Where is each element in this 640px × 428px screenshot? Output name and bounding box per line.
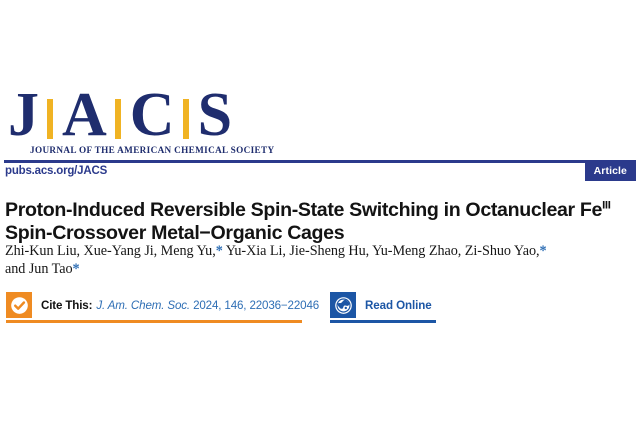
- article-type-badge: Article: [585, 162, 636, 181]
- globe-icon: [330, 292, 356, 318]
- logo-letter-c: C: [130, 87, 174, 144]
- corresponding-author-marker-3[interactable]: *: [73, 261, 80, 277]
- corresponding-author-marker-1[interactable]: *: [216, 243, 223, 259]
- cite-this-label: Cite This:: [41, 299, 92, 312]
- cite-this-block[interactable]: Cite This: J. Am. Chem. Soc. 2024, 146, …: [6, 292, 302, 323]
- read-online-label[interactable]: Read Online: [356, 292, 432, 318]
- logo-divider-bar-3: [183, 99, 189, 139]
- read-online-row[interactable]: Read Online: [330, 292, 436, 318]
- cite-this-text: Cite This: J. Am. Chem. Soc. 2024, 146, …: [32, 292, 319, 318]
- corresponding-author-marker-2[interactable]: *: [539, 243, 546, 259]
- citation-volume-pages: 2024, 146, 22036−22046: [190, 299, 319, 312]
- citation-journal-name: J. Am. Chem. Soc.: [96, 299, 190, 312]
- logo-letter-s: S: [198, 87, 231, 144]
- check-circle-icon: [6, 292, 32, 318]
- author-list: Zhi-Kun Liu, Xue-Yang Ji, Meng Yu,* Yu-X…: [5, 242, 625, 278]
- read-online-underline: [330, 320, 436, 323]
- read-online-block[interactable]: Read Online: [330, 292, 436, 323]
- author-line-2: and Jun Tao: [5, 261, 73, 277]
- cite-this-underline: [6, 320, 302, 323]
- title-superscript-oxidation-state: III: [602, 200, 610, 212]
- journal-subtitle: JOURNAL OF THE AMERICAN CHEMICAL SOCIETY: [30, 145, 428, 155]
- journal-url-link[interactable]: pubs.acs.org/JACS: [5, 165, 107, 177]
- author-line-1-cont: Yu-Xia Li, Jie-Sheng Hu, Yu-Meng Zhao, Z…: [223, 243, 540, 259]
- logo-letter-j: J: [8, 87, 38, 144]
- article-header-page: J A C S JOURNAL OF THE AMERICAN CHEMICAL…: [0, 0, 640, 428]
- jacs-logo: J A C S: [8, 88, 428, 144]
- journal-masthead: J A C S JOURNAL OF THE AMERICAN CHEMICAL…: [8, 88, 428, 155]
- cite-this-row[interactable]: Cite This: J. Am. Chem. Soc. 2024, 146, …: [6, 292, 302, 318]
- logo-divider-bar-1: [47, 99, 53, 139]
- logo-letter-a: A: [62, 87, 106, 144]
- page-title: Proton-Induced Reversible Spin-State Swi…: [5, 199, 639, 244]
- masthead-divider-rule: [4, 160, 636, 163]
- title-line-1: Proton-Induced Reversible Spin-State Swi…: [5, 199, 602, 221]
- title-line-2: Spin-Crossover Metal−Organic Cages: [5, 222, 344, 244]
- logo-divider-bar-2: [115, 99, 121, 139]
- author-line-1: Zhi-Kun Liu, Xue-Yang Ji, Meng Yu,: [5, 243, 216, 259]
- citation-reference[interactable]: J. Am. Chem. Soc. 2024, 146, 22036−22046: [96, 299, 319, 312]
